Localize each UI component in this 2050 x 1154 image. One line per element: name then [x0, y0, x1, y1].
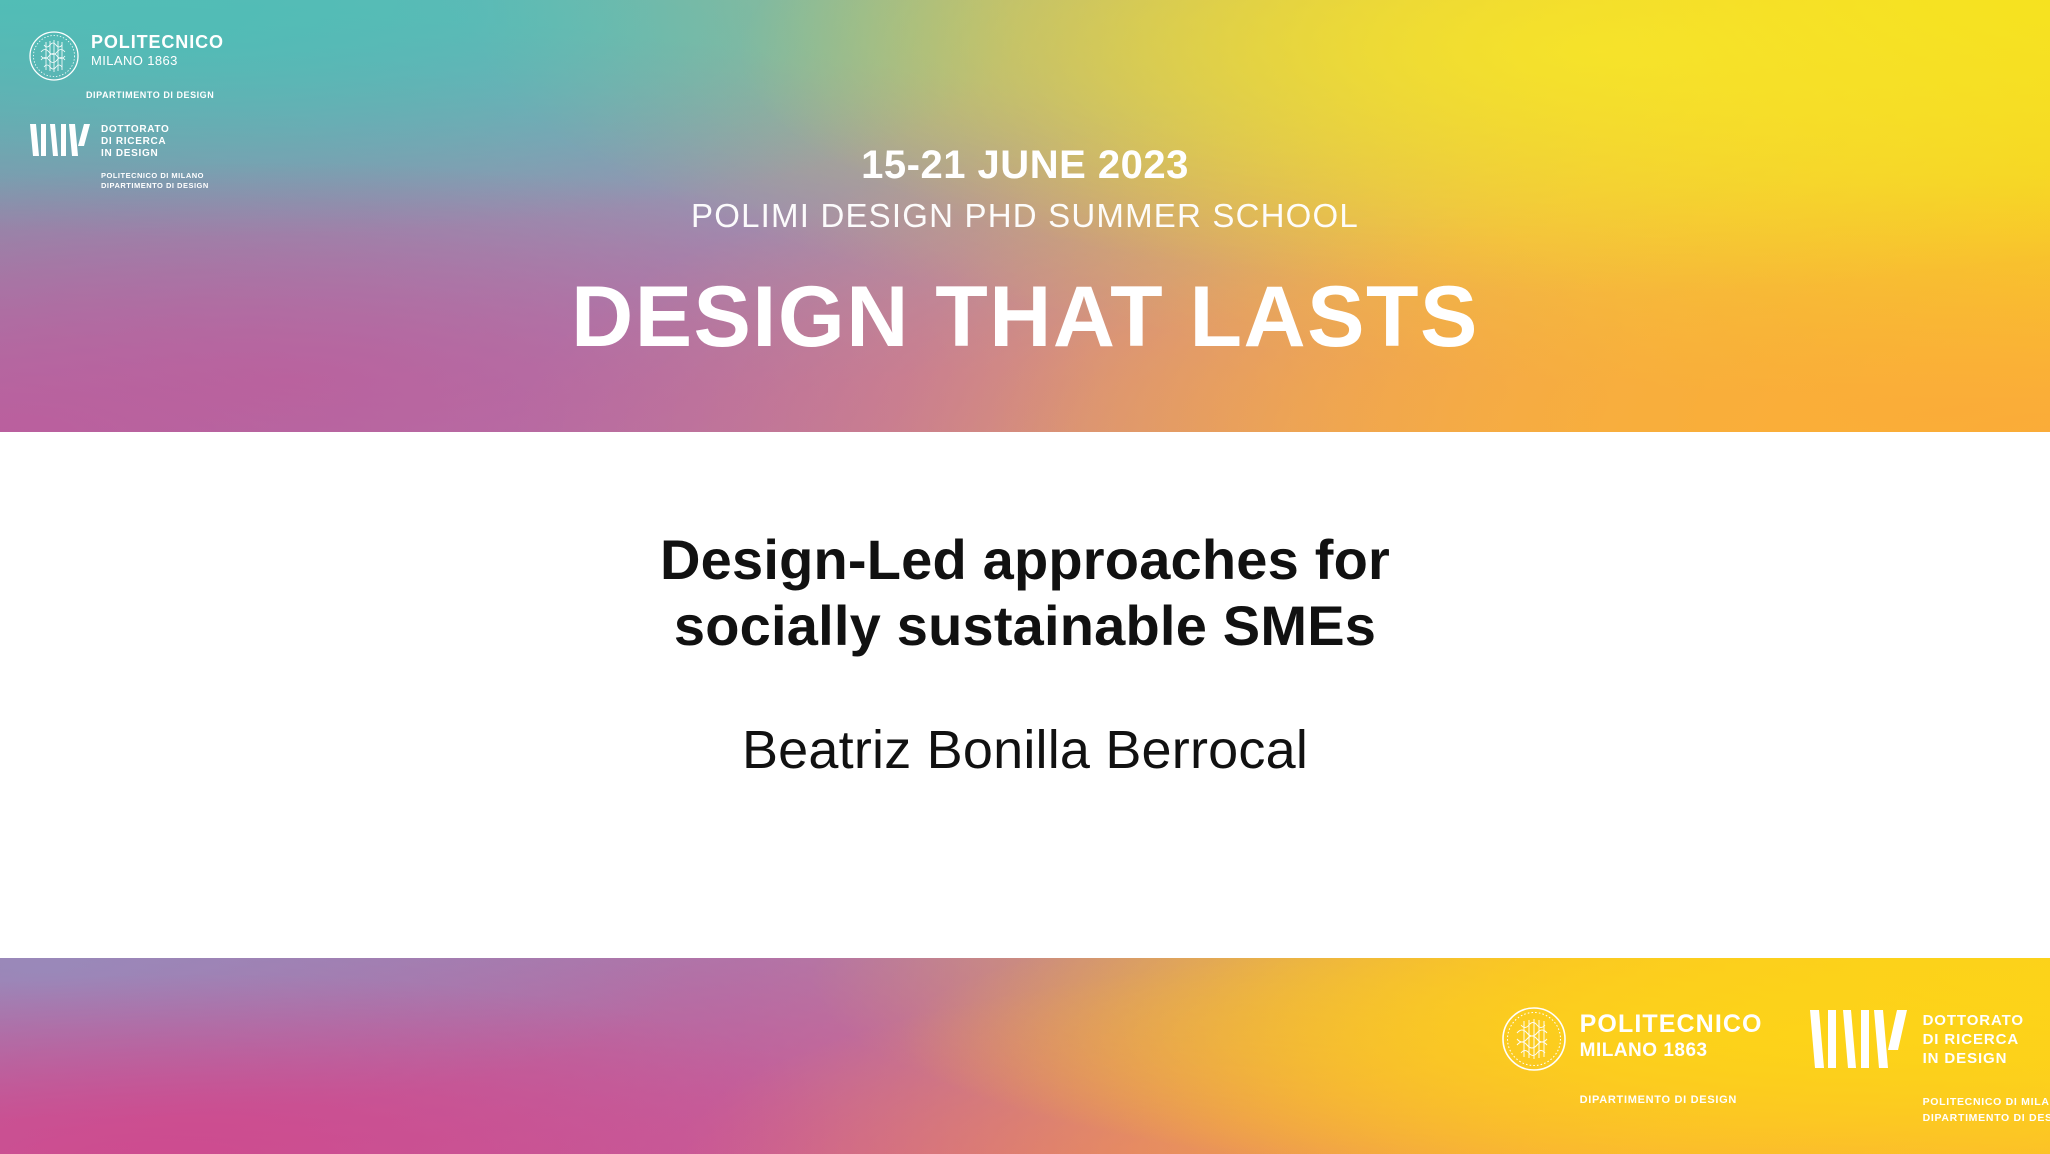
event-name: POLIMI DESIGN PHD SUMMER SCHOOL: [0, 199, 2050, 232]
footer-dottorato-logo: DOTTORATO DI RICERCA IN DESIGN POLITECNI…: [1807, 1002, 2024, 1068]
dottorato-affiliation: POLITECNICO DI MILANO DIPARTIMENTO DI DE…: [1923, 1094, 2050, 1127]
presentation-title-line-1: Design-Led approaches for: [0, 527, 2050, 593]
dottorato-bars-icon: [1807, 1010, 1907, 1068]
dottorato-line-1: DOTTORATO: [1923, 1012, 2024, 1031]
footer-gradient-band: POLITECNICO MILANO 1863 DIPARTIMENTO DI …: [0, 958, 2050, 1154]
footer-logo-group: POLITECNICO MILANO 1863 DIPARTIMENTO DI …: [1501, 1002, 2024, 1072]
dottorato-wordmark: DOTTORATO DI RICERCA IN DESIGN: [1923, 1002, 2024, 1068]
dottorato-affiliation-line-2: DIPARTIMENTO DI DESIGN: [1923, 1110, 2050, 1126]
presentation-slide: POLITECNICO MILANO 1863 DIPARTIMENTO DI …: [0, 0, 2050, 1154]
dottorato-line-3: IN DESIGN: [1923, 1050, 2024, 1069]
slide-body: Design-Led approaches for socially susta…: [0, 432, 2050, 958]
politecnico-wordmark: POLITECNICO MILANO 1863: [1580, 1002, 1763, 1063]
event-dates: 15-21 JUNE 2023: [0, 145, 2050, 185]
dottorato-line-2: DI RICERCA: [1923, 1031, 2024, 1050]
politecnico-name: POLITECNICO: [1580, 1012, 1763, 1037]
dottorato-affiliation-line-1: POLITECNICO DI MILANO: [1923, 1094, 2050, 1110]
event-title: DESIGN THAT LASTS: [0, 274, 2050, 360]
politecnico-seal-icon: [1501, 1006, 1567, 1072]
header-gradient-band: POLITECNICO MILANO 1863 DIPARTIMENTO DI …: [0, 0, 2050, 432]
header-center-text: 15-21 JUNE 2023 POLIMI DESIGN PHD SUMMER…: [0, 0, 2050, 360]
presenter-name: Beatriz Bonilla Berrocal: [0, 721, 2050, 780]
politecnico-subtitle: MILANO 1863: [1580, 1040, 1763, 1063]
presentation-title: Design-Led approaches for socially susta…: [0, 527, 2050, 659]
politecnico-department: DIPARTIMENTO DI DESIGN: [1580, 1094, 1737, 1106]
presentation-title-line-2: socially sustainable SMEs: [0, 593, 2050, 659]
footer-politecnico-logo: POLITECNICO MILANO 1863 DIPARTIMENTO DI …: [1501, 1002, 1785, 1072]
